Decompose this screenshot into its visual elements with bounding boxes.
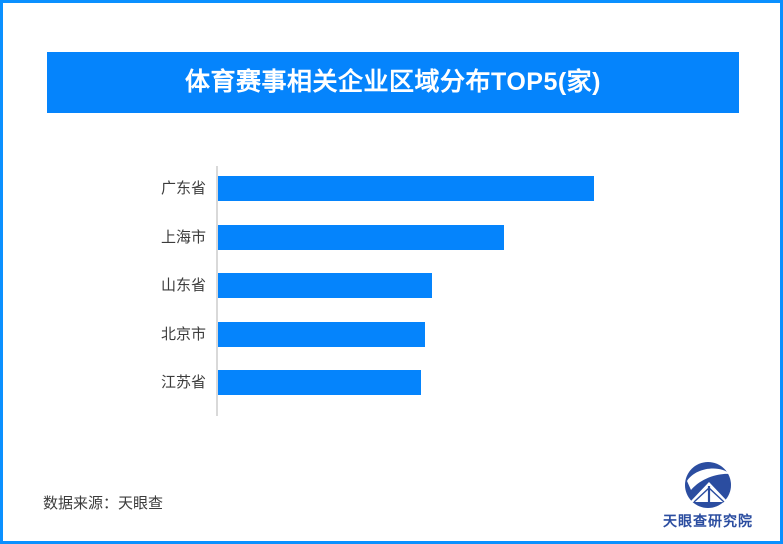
source-note: 数据来源：天眼查 <box>43 492 163 513</box>
title-banner: 体育赛事相关企业区域分布TOP5(家) <box>47 52 739 113</box>
brand-logo: 天眼查研究院 <box>658 461 758 533</box>
bar-chart: 广东省上海市山东省北京市江苏省 <box>3 153 783 418</box>
bar <box>218 370 421 395</box>
brand-logo-text: 天眼查研究院 <box>658 511 758 531</box>
bar-category-label: 上海市 <box>63 225 206 250</box>
bar-category-label: 山东省 <box>63 273 206 298</box>
bar-row: 上海市 <box>3 225 783 250</box>
bar-row: 北京市 <box>3 322 783 347</box>
page-title: 体育赛事相关企业区域分布TOP5(家) <box>185 70 601 95</box>
bar <box>218 273 432 298</box>
bar-row: 江苏省 <box>3 370 783 395</box>
bar <box>218 225 504 250</box>
eye-mountain-logo-icon <box>680 461 736 509</box>
chart-card: 体育赛事相关企业区域分布TOP5(家) 广东省上海市山东省北京市江苏省 数据来源… <box>0 0 783 544</box>
bar-row: 广东省 <box>3 176 783 201</box>
bar-category-label: 北京市 <box>63 322 206 347</box>
bar-row: 山东省 <box>3 273 783 298</box>
bar <box>218 322 425 347</box>
bar-category-label: 江苏省 <box>63 370 206 395</box>
bar <box>218 176 594 201</box>
bar-category-label: 广东省 <box>63 176 206 201</box>
